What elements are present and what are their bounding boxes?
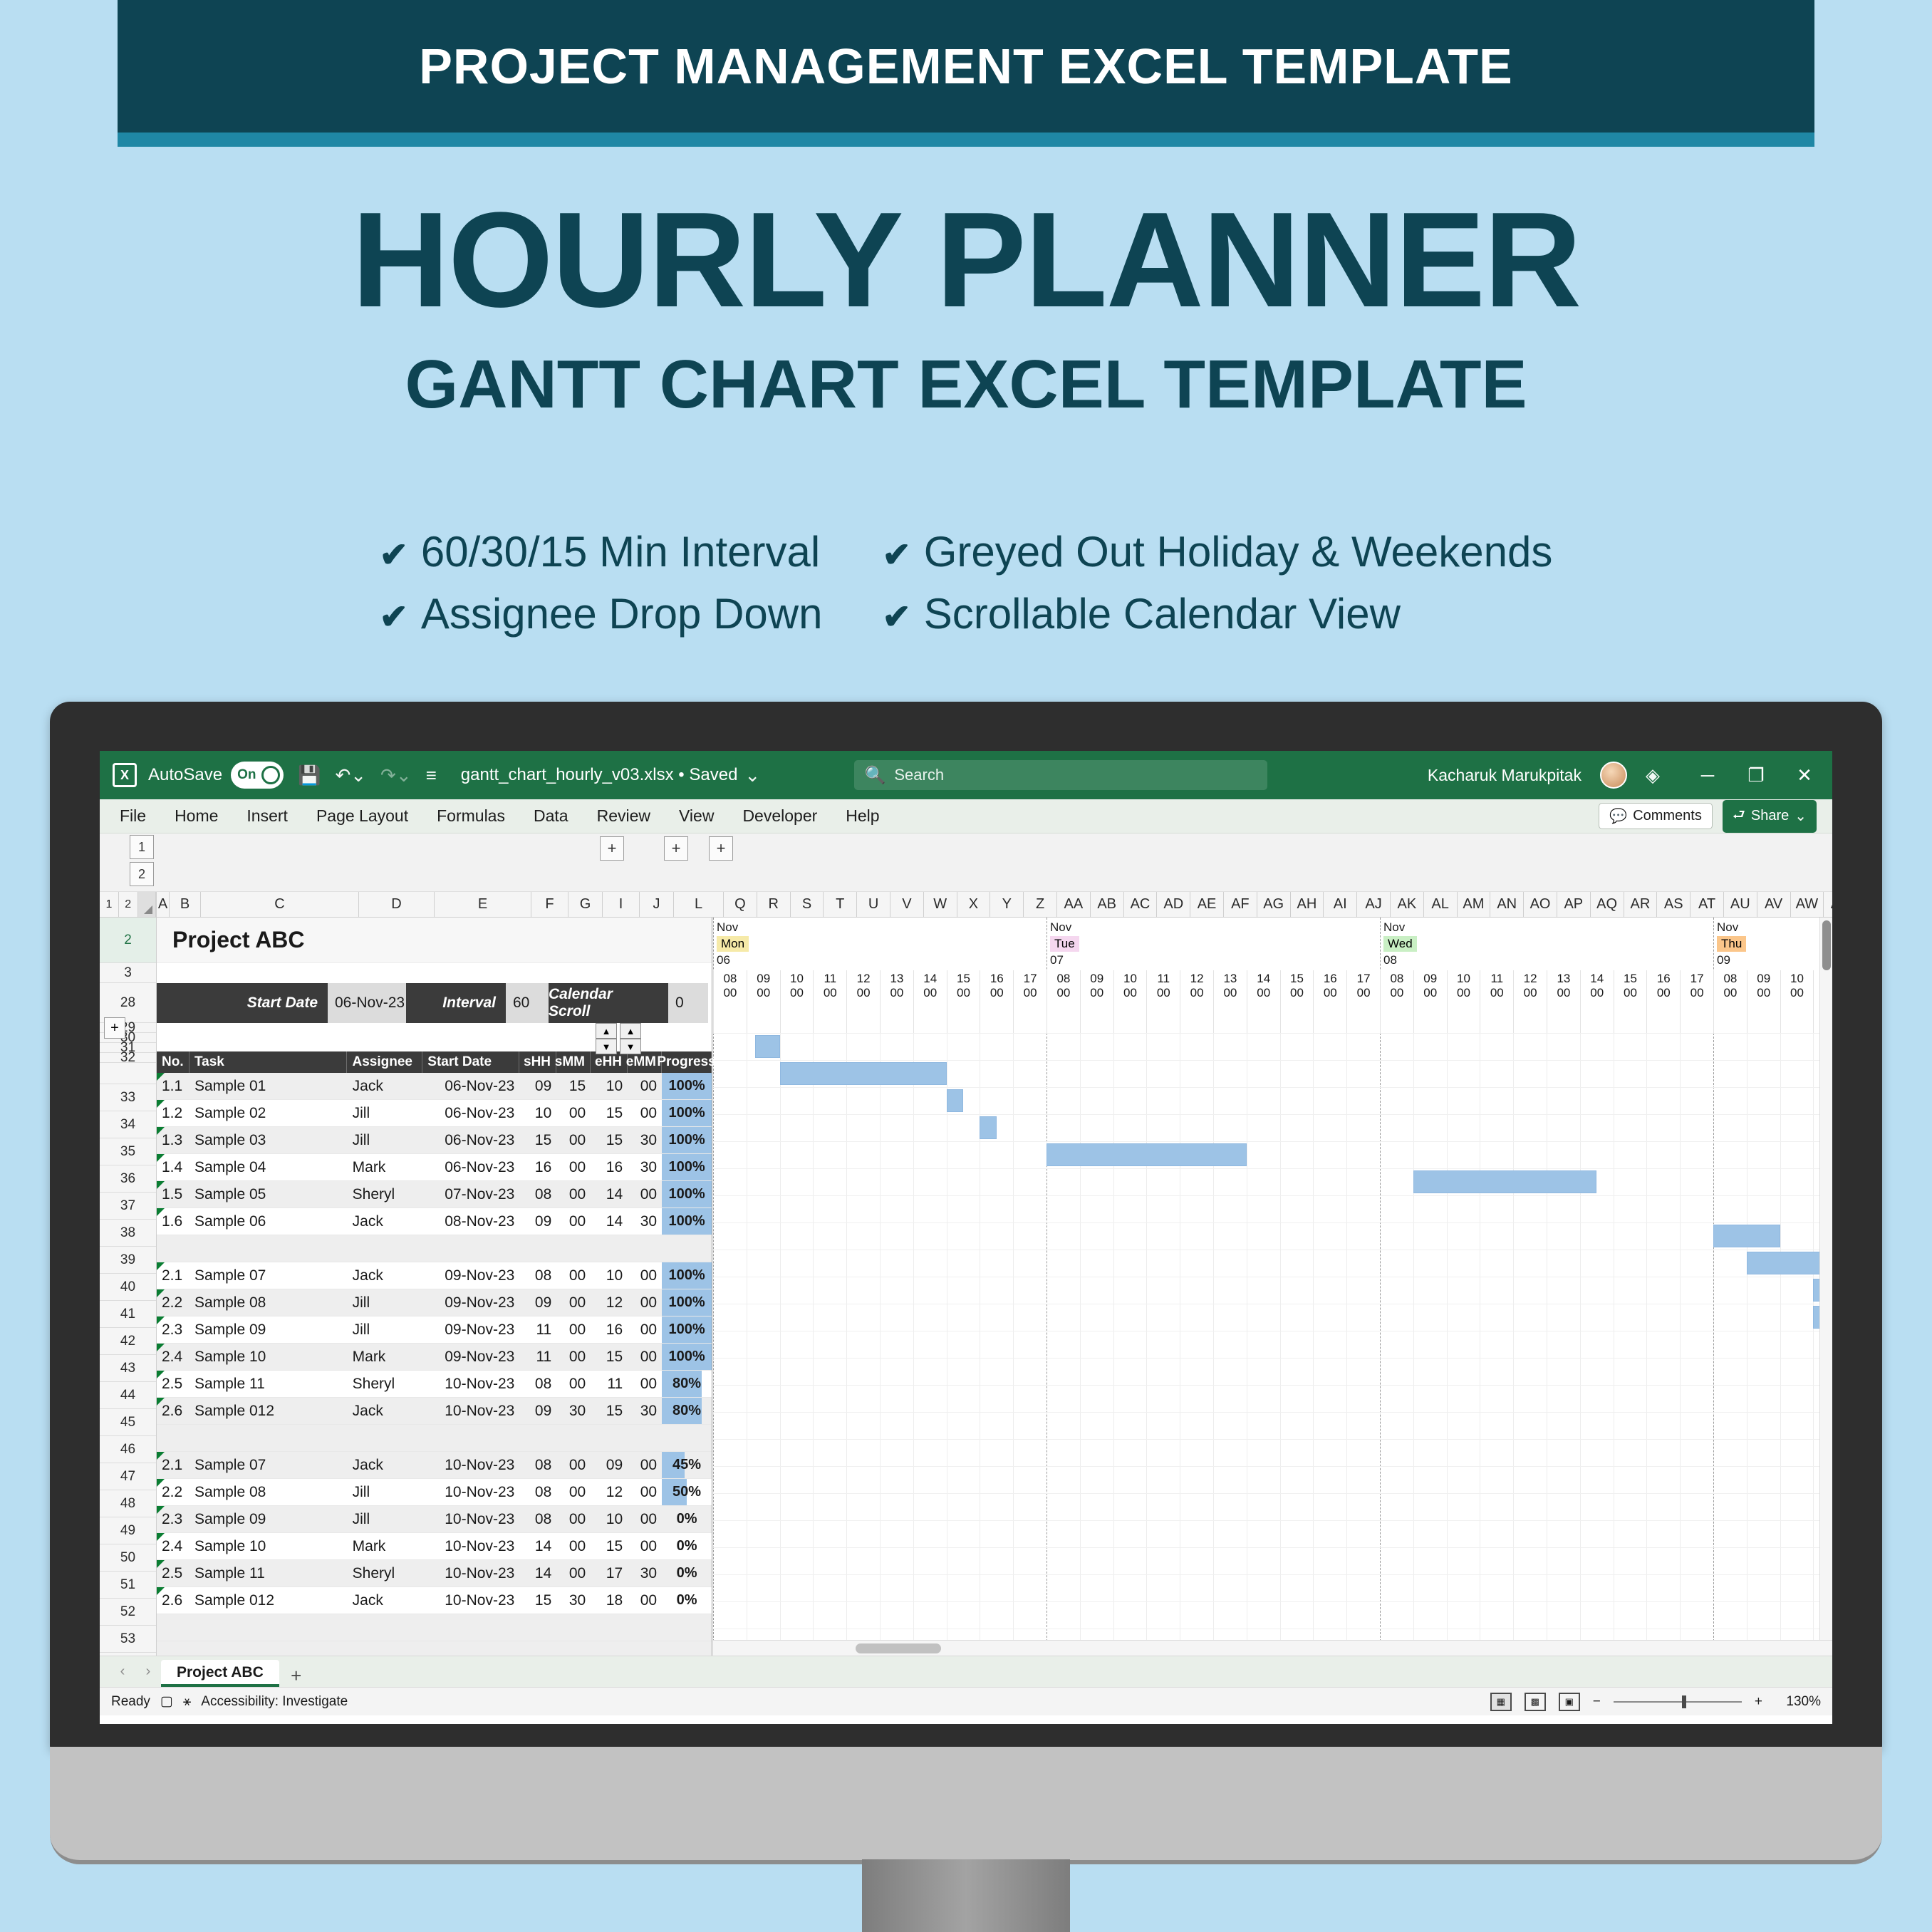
- row-header-45[interactable]: 45: [100, 1409, 156, 1436]
- column-header-AB[interactable]: AB: [1091, 892, 1124, 917]
- cell-emm[interactable]: 30: [628, 1154, 662, 1180]
- cell-shh[interactable]: 11: [519, 1316, 556, 1343]
- cell-ehh[interactable]: 15: [591, 1533, 628, 1559]
- cell-ehh[interactable]: 10: [591, 1506, 628, 1532]
- table-row[interactable]: 2.1Sample 07Jack09-Nov-2308001000100%: [157, 1262, 712, 1289]
- cell-shh[interactable]: [519, 1614, 556, 1641]
- cell-shh[interactable]: 08: [519, 1371, 556, 1397]
- cell-start-date[interactable]: 10-Nov-23: [423, 1452, 520, 1478]
- cell-assignee[interactable]: Mark: [348, 1344, 423, 1370]
- cell-assignee[interactable]: [348, 1235, 423, 1262]
- cell-emm[interactable]: 00: [628, 1506, 662, 1532]
- column-header-AA[interactable]: AA: [1057, 892, 1091, 917]
- cell-no[interactable]: 1.2: [157, 1100, 189, 1126]
- outline-expand-3[interactable]: +: [709, 836, 733, 861]
- cell-smm[interactable]: 30: [556, 1587, 591, 1614]
- table-row[interactable]: 1.5Sample 05Sheryl07-Nov-2308001400100%: [157, 1181, 712, 1208]
- page-break-view-icon[interactable]: ▣: [1559, 1693, 1580, 1711]
- row-header-50[interactable]: 50: [100, 1544, 156, 1572]
- cell-no[interactable]: 2.5: [157, 1560, 189, 1586]
- gantt-bar[interactable]: [1046, 1143, 1247, 1166]
- outline-expand-1[interactable]: +: [600, 836, 624, 861]
- cell-start-date[interactable]: 06-Nov-23: [423, 1100, 520, 1126]
- cell-assignee[interactable]: Jill: [348, 1316, 423, 1343]
- tab-view[interactable]: View: [675, 804, 718, 829]
- avatar[interactable]: [1600, 762, 1627, 789]
- cell-ehh[interactable]: [591, 1641, 628, 1656]
- cell-emm[interactable]: 00: [628, 1316, 662, 1343]
- column-header-Y[interactable]: Y: [990, 892, 1024, 917]
- cell-progress[interactable]: 0%: [662, 1533, 712, 1559]
- tab-developer[interactable]: Developer: [738, 804, 821, 829]
- cell-progress[interactable]: [662, 1641, 712, 1656]
- row-header-47[interactable]: 47: [100, 1463, 156, 1490]
- cell-smm[interactable]: 00: [556, 1316, 591, 1343]
- cell-task[interactable]: Sample 012: [189, 1587, 348, 1614]
- column-header-AX[interactable]: AX: [1824, 892, 1832, 917]
- column-header-U[interactable]: U: [857, 892, 890, 917]
- col-header-shh[interactable]: sHH: [519, 1051, 556, 1073]
- column-header-AJ[interactable]: AJ: [1357, 892, 1391, 917]
- cell-ehh[interactable]: 16: [591, 1154, 628, 1180]
- cell-task[interactable]: Sample 02: [189, 1100, 348, 1126]
- cell-ehh[interactable]: 16: [591, 1316, 628, 1343]
- cell-no[interactable]: 2.3: [157, 1316, 189, 1343]
- cell-emm[interactable]: 30: [628, 1398, 662, 1424]
- row-header-44[interactable]: 44: [100, 1382, 156, 1409]
- spinner-down-icon[interactable]: ▼: [596, 1039, 617, 1054]
- gantt-bar[interactable]: [780, 1062, 947, 1085]
- cell-task[interactable]: Sample 08: [189, 1289, 348, 1316]
- row-header-36[interactable]: 36: [100, 1165, 156, 1193]
- accessibility-label[interactable]: Accessibility: Investigate: [201, 1694, 348, 1710]
- cell-smm[interactable]: 30: [556, 1398, 591, 1424]
- table-row[interactable]: 1.2Sample 02Jill06-Nov-2310001500100%: [157, 1100, 712, 1127]
- cell-ehh[interactable]: 11: [591, 1371, 628, 1397]
- cell-shh[interactable]: 08: [519, 1262, 556, 1289]
- tab-insert[interactable]: Insert: [242, 804, 292, 829]
- cell-ehh[interactable]: [591, 1425, 628, 1451]
- table-row[interactable]: 2.4Sample 10Mark10-Nov-23140015000%: [157, 1533, 712, 1560]
- col-header-ehh[interactable]: eHH: [591, 1051, 628, 1073]
- cell-ehh[interactable]: 14: [591, 1181, 628, 1207]
- autosave-toggle[interactable]: On: [231, 762, 284, 789]
- cell-smm[interactable]: [556, 1614, 591, 1641]
- cell-no[interactable]: 2.5: [157, 1371, 189, 1397]
- horizontal-scroll-thumb[interactable]: [856, 1643, 941, 1653]
- cell-progress[interactable]: 80%: [662, 1371, 712, 1397]
- table-row[interactable]: [157, 1614, 712, 1641]
- cell-ehh[interactable]: 15: [591, 1100, 628, 1126]
- col-header-start[interactable]: Start Date: [422, 1051, 519, 1073]
- row-header-41[interactable]: 41: [100, 1301, 156, 1328]
- cell-start-date[interactable]: [423, 1235, 520, 1262]
- zoom-level-label[interactable]: 130%: [1775, 1694, 1821, 1710]
- table-row[interactable]: [157, 1235, 712, 1262]
- vertical-scrollbar[interactable]: [1819, 918, 1832, 1640]
- cell-smm[interactable]: [556, 1235, 591, 1262]
- cell-shh[interactable]: [519, 1641, 556, 1656]
- prev-sheet-icon[interactable]: ‹: [110, 1656, 135, 1687]
- table-row[interactable]: 2.6Sample 012Jack10-Nov-230930153080%: [157, 1398, 712, 1425]
- cell-assignee[interactable]: Sheryl: [348, 1371, 423, 1397]
- column-header-F[interactable]: F: [531, 892, 568, 917]
- cell-progress[interactable]: 100%: [662, 1316, 712, 1343]
- cell-emm[interactable]: 00: [628, 1344, 662, 1370]
- row-header-52[interactable]: 52: [100, 1599, 156, 1626]
- cell-no[interactable]: 2.1: [157, 1262, 189, 1289]
- cell-no[interactable]: 1.4: [157, 1154, 189, 1180]
- cell-no[interactable]: 2.2: [157, 1479, 189, 1505]
- cell-progress[interactable]: 100%: [662, 1262, 712, 1289]
- cell-emm[interactable]: 30: [628, 1208, 662, 1235]
- table-row[interactable]: 2.5Sample 11Sheryl10-Nov-230800110080%: [157, 1371, 712, 1398]
- column-header-AU[interactable]: AU: [1724, 892, 1757, 917]
- cell-smm[interactable]: 15: [556, 1073, 591, 1099]
- cell-shh[interactable]: 08: [519, 1506, 556, 1532]
- cell-smm[interactable]: 00: [556, 1506, 591, 1532]
- row-header-38[interactable]: 38: [100, 1220, 156, 1247]
- table-row[interactable]: 1.3Sample 03Jill06-Nov-2315001530100%: [157, 1127, 712, 1154]
- row-header-33[interactable]: 33: [100, 1084, 156, 1111]
- spinner-up-icon[interactable]: ▲: [596, 1023, 617, 1039]
- cell-ehh[interactable]: 15: [591, 1127, 628, 1153]
- cell-no[interactable]: [157, 1614, 189, 1641]
- interval-value[interactable]: 60: [506, 983, 549, 1023]
- cell-task[interactable]: Sample 07: [189, 1262, 348, 1289]
- cell-ehh[interactable]: 15: [591, 1344, 628, 1370]
- cell-start-date[interactable]: 09-Nov-23: [423, 1316, 520, 1343]
- cell-emm[interactable]: 00: [628, 1533, 662, 1559]
- gantt-bar[interactable]: [1413, 1170, 1596, 1193]
- cell-ehh[interactable]: 12: [591, 1479, 628, 1505]
- cell-shh[interactable]: 15: [519, 1587, 556, 1614]
- column-header-AR[interactable]: AR: [1624, 892, 1658, 917]
- cell-emm[interactable]: 00: [628, 1262, 662, 1289]
- cell-emm[interactable]: 00: [628, 1587, 662, 1614]
- cell-task[interactable]: Sample 03: [189, 1127, 348, 1153]
- cell-smm[interactable]: 00: [556, 1560, 591, 1586]
- row-header-40[interactable]: 40: [100, 1274, 156, 1301]
- cell-start-date[interactable]: 10-Nov-23: [423, 1533, 520, 1559]
- tab-page-layout[interactable]: Page Layout: [312, 804, 412, 829]
- cell-progress[interactable]: 50%: [662, 1479, 712, 1505]
- file-name-label[interactable]: gantt_chart_hourly_v03.xlsx • Saved: [461, 765, 738, 785]
- column-header-AG[interactable]: AG: [1257, 892, 1291, 917]
- cell-assignee[interactable]: Jill: [348, 1289, 423, 1316]
- cell-start-date[interactable]: [423, 1641, 520, 1656]
- redo-icon[interactable]: ↷⌄: [380, 764, 412, 786]
- cell-progress[interactable]: 100%: [662, 1073, 712, 1099]
- row-header-2[interactable]: 2: [100, 918, 156, 963]
- outline-col-level-2[interactable]: 2: [119, 892, 138, 917]
- cell-shh[interactable]: 10: [519, 1100, 556, 1126]
- cell-assignee[interactable]: [348, 1614, 423, 1641]
- gantt-bar[interactable]: [947, 1089, 963, 1112]
- column-header-A[interactable]: A: [157, 892, 170, 917]
- cell-progress[interactable]: 0%: [662, 1506, 712, 1532]
- cell-task[interactable]: Sample 11: [189, 1560, 348, 1586]
- cell-no[interactable]: 2.2: [157, 1289, 189, 1316]
- column-header-G[interactable]: G: [568, 892, 603, 917]
- cell-smm[interactable]: 00: [556, 1371, 591, 1397]
- cell-task[interactable]: Sample 09: [189, 1316, 348, 1343]
- table-row[interactable]: 2.6Sample 012Jack10-Nov-23153018000%: [157, 1587, 712, 1614]
- sheet-corner[interactable]: 1 2: [100, 892, 157, 917]
- tab-formulas[interactable]: Formulas: [432, 804, 509, 829]
- cell-ehh[interactable]: [591, 1614, 628, 1641]
- table-row[interactable]: 1.6Sample 06Jack08-Nov-2309001430100%: [157, 1208, 712, 1235]
- cell-start-date[interactable]: [423, 1614, 520, 1641]
- cell-ehh[interactable]: 15: [591, 1398, 628, 1424]
- cell-start-date[interactable]: 10-Nov-23: [423, 1587, 520, 1614]
- cell-start-date[interactable]: 06-Nov-23: [423, 1127, 520, 1153]
- row-header-42[interactable]: 42: [100, 1328, 156, 1355]
- table-row[interactable]: 1.1Sample 01Jack06-Nov-2309151000100%: [157, 1073, 712, 1100]
- outline-expand-rows[interactable]: +: [104, 1017, 125, 1039]
- cell-assignee[interactable]: Jill: [348, 1127, 423, 1153]
- cell-smm[interactable]: 00: [556, 1262, 591, 1289]
- cell-task[interactable]: Sample 07: [189, 1452, 348, 1478]
- zoom-slider-knob[interactable]: [1682, 1695, 1686, 1708]
- cell-progress[interactable]: [662, 1614, 712, 1641]
- column-header-AK[interactable]: AK: [1391, 892, 1424, 917]
- column-header-AI[interactable]: AI: [1324, 892, 1357, 917]
- cell-progress[interactable]: 100%: [662, 1208, 712, 1235]
- tab-data[interactable]: Data: [529, 804, 573, 829]
- cell-shh[interactable]: 14: [519, 1560, 556, 1586]
- account-name[interactable]: Kacharuk Marukpitak: [1428, 766, 1582, 785]
- cell-task[interactable]: Sample 01: [189, 1073, 348, 1099]
- cell-ehh[interactable]: 17: [591, 1560, 628, 1586]
- cell-start-date[interactable]: 09-Nov-23: [423, 1344, 520, 1370]
- comments-button[interactable]: 💬 Comments: [1599, 803, 1713, 829]
- cell-emm[interactable]: 00: [628, 1289, 662, 1316]
- cell-shh[interactable]: 09: [519, 1073, 556, 1099]
- column-header-L[interactable]: L: [674, 892, 724, 917]
- column-header-D[interactable]: D: [359, 892, 435, 917]
- cell-smm[interactable]: 00: [556, 1208, 591, 1235]
- cell-emm[interactable]: 30: [628, 1127, 662, 1153]
- row-header-46[interactable]: 46: [100, 1436, 156, 1463]
- cell-shh[interactable]: 08: [519, 1479, 556, 1505]
- cell-assignee[interactable]: Jack: [348, 1398, 423, 1424]
- cell-emm[interactable]: [628, 1614, 662, 1641]
- cell-start-date[interactable]: 07-Nov-23: [423, 1181, 520, 1207]
- cell-progress[interactable]: 100%: [662, 1127, 712, 1153]
- cell-smm[interactable]: 00: [556, 1289, 591, 1316]
- row-header-39[interactable]: 39: [100, 1247, 156, 1274]
- cell-progress[interactable]: 0%: [662, 1587, 712, 1614]
- table-row[interactable]: 2.3Sample 09Jill09-Nov-2311001600100%: [157, 1316, 712, 1344]
- column-header-AT[interactable]: AT: [1690, 892, 1724, 917]
- search-box[interactable]: 🔍 Search: [854, 760, 1267, 790]
- cell-assignee[interactable]: Jill: [348, 1506, 423, 1532]
- gantt-bar[interactable]: [1713, 1225, 1780, 1247]
- row-header-34[interactable]: 34: [100, 1111, 156, 1138]
- table-row[interactable]: 1.4Sample 04Mark06-Nov-2316001630100%: [157, 1154, 712, 1181]
- tab-review[interactable]: Review: [593, 804, 655, 829]
- row-header-49[interactable]: 49: [100, 1517, 156, 1544]
- column-header-AW[interactable]: AW: [1791, 892, 1824, 917]
- cell-assignee[interactable]: Jack: [348, 1208, 423, 1235]
- column-header-AD[interactable]: AD: [1157, 892, 1190, 917]
- outline-col-level-1[interactable]: 1: [100, 892, 119, 917]
- cell-ehh[interactable]: 14: [591, 1208, 628, 1235]
- spinner-down-icon[interactable]: ▼: [620, 1039, 641, 1054]
- cell-task[interactable]: Sample 08: [189, 1479, 348, 1505]
- cell-start-date[interactable]: 06-Nov-23: [423, 1154, 520, 1180]
- cell-start-date[interactable]: 10-Nov-23: [423, 1398, 520, 1424]
- column-header-W[interactable]: W: [924, 892, 957, 917]
- gantt-bar[interactable]: [755, 1035, 780, 1058]
- column-header-V[interactable]: V: [890, 892, 924, 917]
- normal-view-icon[interactable]: ▦: [1490, 1693, 1512, 1711]
- column-header-AL[interactable]: AL: [1424, 892, 1458, 917]
- cell-emm[interactable]: [628, 1235, 662, 1262]
- cell-start-date[interactable]: 10-Nov-23: [423, 1506, 520, 1532]
- cell-task[interactable]: [189, 1641, 348, 1656]
- cell-no[interactable]: 2.6: [157, 1587, 189, 1614]
- cell-start-date[interactable]: [423, 1425, 520, 1451]
- cell-progress[interactable]: 100%: [662, 1344, 712, 1370]
- column-header-E[interactable]: E: [435, 892, 531, 917]
- restore-button[interactable]: ❐: [1741, 764, 1771, 786]
- cell-ehh[interactable]: 10: [591, 1262, 628, 1289]
- column-header-AQ[interactable]: AQ: [1591, 892, 1624, 917]
- tab-home[interactable]: Home: [170, 804, 222, 829]
- row-header-37[interactable]: 37: [100, 1193, 156, 1220]
- row-header-51[interactable]: 51: [100, 1572, 156, 1599]
- cell-start-date[interactable]: 10-Nov-23: [423, 1560, 520, 1586]
- table-row[interactable]: [157, 1641, 712, 1656]
- cell-ehh[interactable]: 18: [591, 1587, 628, 1614]
- column-header-AC[interactable]: AC: [1124, 892, 1158, 917]
- cell-no[interactable]: 2.4: [157, 1344, 189, 1370]
- cell-shh[interactable]: [519, 1425, 556, 1451]
- calendar-scroll-value[interactable]: 0: [668, 983, 708, 1023]
- cell-task[interactable]: [189, 1614, 348, 1641]
- zoom-slider[interactable]: [1614, 1701, 1742, 1703]
- cell-emm[interactable]: [628, 1641, 662, 1656]
- cell-task[interactable]: Sample 10: [189, 1533, 348, 1559]
- cell-assignee[interactable]: Jack: [348, 1262, 423, 1289]
- diamond-icon[interactable]: ◈: [1646, 764, 1660, 786]
- cell-assignee[interactable]: Jack: [348, 1073, 423, 1099]
- row-header-43[interactable]: 43: [100, 1355, 156, 1382]
- cell-task[interactable]: Sample 09: [189, 1506, 348, 1532]
- cell-smm[interactable]: 00: [556, 1181, 591, 1207]
- sheet-tab-project-abc[interactable]: Project ABC: [161, 1660, 279, 1687]
- cell-task[interactable]: Sample 05: [189, 1181, 348, 1207]
- cell-emm[interactable]: 00: [628, 1479, 662, 1505]
- recording-macro-icon[interactable]: ▢: [160, 1693, 173, 1710]
- cell-ehh[interactable]: 10: [591, 1073, 628, 1099]
- cell-smm[interactable]: 00: [556, 1533, 591, 1559]
- col-header-task[interactable]: Task: [189, 1051, 348, 1073]
- cell-start-date[interactable]: 10-Nov-23: [423, 1479, 520, 1505]
- cell-no[interactable]: 2.6: [157, 1398, 189, 1424]
- column-header-AO[interactable]: AO: [1524, 892, 1557, 917]
- cell-no[interactable]: 1.1: [157, 1073, 189, 1099]
- cell-no[interactable]: [157, 1641, 189, 1656]
- cell-start-date[interactable]: 09-Nov-23: [423, 1289, 520, 1316]
- column-header-AM[interactable]: AM: [1458, 892, 1491, 917]
- cell-ehh[interactable]: [591, 1235, 628, 1262]
- next-sheet-icon[interactable]: ›: [135, 1656, 161, 1687]
- cell-smm[interactable]: 00: [556, 1127, 591, 1153]
- col-header-no[interactable]: No.: [157, 1051, 189, 1073]
- column-header-AN[interactable]: AN: [1490, 892, 1524, 917]
- cell-smm[interactable]: 00: [556, 1344, 591, 1370]
- cell-assignee[interactable]: Jack: [348, 1452, 423, 1478]
- horizontal-scrollbar[interactable]: [713, 1640, 1832, 1656]
- col-header-progress[interactable]: Progress: [662, 1051, 712, 1073]
- cell-task[interactable]: Sample 06: [189, 1208, 348, 1235]
- cell-progress[interactable]: 80%: [662, 1398, 712, 1424]
- page-layout-view-icon[interactable]: ▩: [1525, 1693, 1546, 1711]
- column-header-J[interactable]: J: [640, 892, 674, 917]
- select-all-icon[interactable]: [138, 892, 156, 917]
- outline-expand-2[interactable]: +: [664, 836, 688, 861]
- customize-qat-icon[interactable]: ≡: [426, 764, 437, 786]
- gantt-bar[interactable]: [980, 1116, 996, 1139]
- cell-no[interactable]: [157, 1425, 189, 1451]
- cell-shh[interactable]: 09: [519, 1398, 556, 1424]
- cell-ehh[interactable]: 09: [591, 1452, 628, 1478]
- cell-assignee[interactable]: [348, 1425, 423, 1451]
- tab-file[interactable]: File: [115, 804, 150, 829]
- column-header-AS[interactable]: AS: [1657, 892, 1690, 917]
- zoom-in-button[interactable]: +: [1755, 1694, 1762, 1710]
- col-header-smm[interactable]: sMM: [556, 1051, 591, 1073]
- cell-shh[interactable]: 08: [519, 1452, 556, 1478]
- cell-emm[interactable]: 00: [628, 1073, 662, 1099]
- add-sheet-button[interactable]: +: [279, 1665, 313, 1687]
- cell-assignee[interactable]: [348, 1641, 423, 1656]
- cell-emm[interactable]: 00: [628, 1452, 662, 1478]
- cell-no[interactable]: 1.5: [157, 1181, 189, 1207]
- table-row[interactable]: 2.1Sample 07Jack10-Nov-230800090045%: [157, 1452, 712, 1479]
- cell-start-date[interactable]: 08-Nov-23: [423, 1208, 520, 1235]
- cell-shh[interactable]: 09: [519, 1208, 556, 1235]
- table-row[interactable]: 2.2Sample 08Jill10-Nov-230800120050%: [157, 1479, 712, 1506]
- cell-task[interactable]: Sample 10: [189, 1344, 348, 1370]
- column-header-S[interactable]: S: [791, 892, 824, 917]
- column-header-AV[interactable]: AV: [1757, 892, 1791, 917]
- chevron-down-icon[interactable]: ⌄: [744, 764, 760, 786]
- row-header-54[interactable]: 54: [100, 1653, 156, 1656]
- cell-emm[interactable]: 00: [628, 1371, 662, 1397]
- cell-emm[interactable]: 00: [628, 1100, 662, 1126]
- cell-smm[interactable]: 00: [556, 1100, 591, 1126]
- column-header-C[interactable]: C: [201, 892, 359, 917]
- cell-assignee[interactable]: Jill: [348, 1100, 423, 1126]
- cell-no[interactable]: [157, 1235, 189, 1262]
- minimize-button[interactable]: ─: [1693, 764, 1723, 786]
- column-header-T[interactable]: T: [824, 892, 857, 917]
- column-header-I[interactable]: I: [603, 892, 640, 917]
- cell-no[interactable]: 2.4: [157, 1533, 189, 1559]
- start-date-value[interactable]: 06-Nov-23: [328, 983, 406, 1023]
- outline-level-1[interactable]: 1: [130, 835, 154, 859]
- cell-task[interactable]: Sample 04: [189, 1154, 348, 1180]
- cell-assignee[interactable]: Sheryl: [348, 1560, 423, 1586]
- project-title-cell[interactable]: Project ABC: [157, 918, 712, 963]
- cell-assignee[interactable]: Mark: [348, 1154, 423, 1180]
- column-header-AP[interactable]: AP: [1557, 892, 1591, 917]
- cell-start-date[interactable]: 10-Nov-23: [423, 1371, 520, 1397]
